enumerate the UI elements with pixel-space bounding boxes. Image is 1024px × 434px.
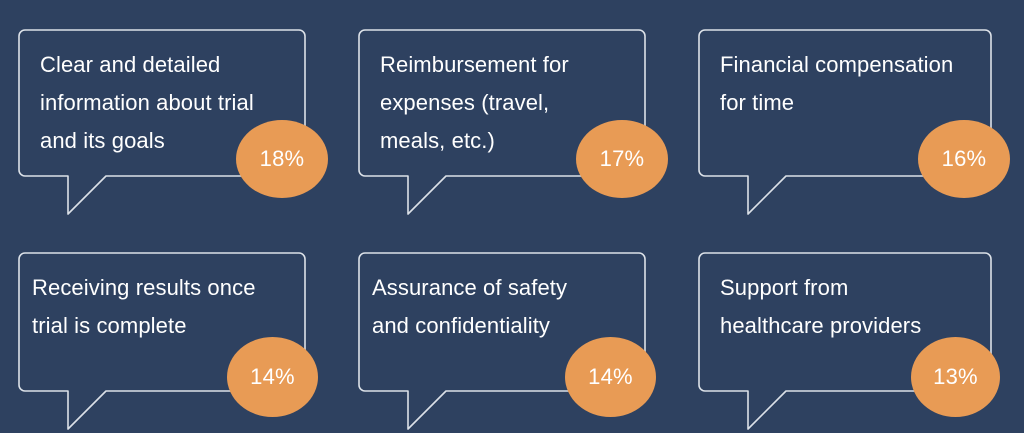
percent-bubble-1[interactable]: 18% — [236, 120, 328, 198]
percent-label-1: 18% — [260, 148, 305, 170]
percent-label-2: 17% — [600, 148, 645, 170]
percent-bubble-4[interactable]: 14% — [227, 337, 318, 417]
percent-label-4: 14% — [250, 366, 295, 388]
percent-label-5: 14% — [588, 366, 633, 388]
percent-label-6: 13% — [933, 366, 978, 388]
percent-bubble-3[interactable]: 16% — [918, 120, 1010, 198]
percent-bubble-6[interactable]: 13% — [911, 337, 1000, 417]
percent-bubble-2[interactable]: 17% — [576, 120, 668, 198]
infographic-canvas: Clear and detailed information about tri… — [0, 0, 1024, 433]
percent-label-3: 16% — [942, 148, 987, 170]
percent-bubble-5[interactable]: 14% — [565, 337, 656, 417]
